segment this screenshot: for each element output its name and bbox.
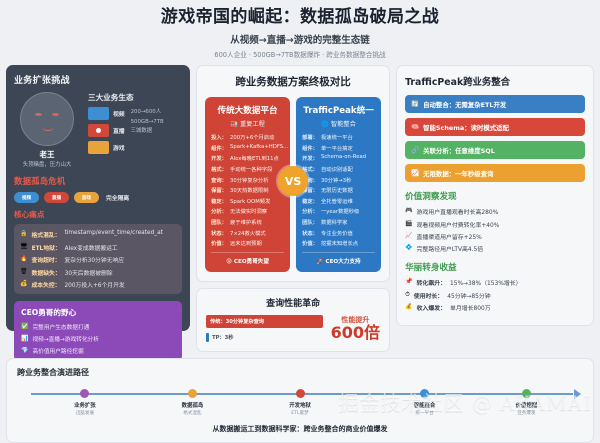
timeline-node-sub: 业务爆发 [496,410,556,416]
ceo-item-text: 完整用户生态数据打通 [32,322,89,331]
ceo-ambition-box: CEO勇哥的野心 ✅ 完整用户生态数据打通 📊 视频→直播→游戏转化分析 💎 高… [14,301,182,361]
avatar-eye-left-icon [35,113,42,116]
row-value: 无限历史数据 [321,186,353,194]
timeline-dot [188,389,197,398]
issue-value: 30天后数据被删除 [65,268,113,277]
feature-bar-text: 无限数据：一年秒级查询 [423,169,493,178]
ecosystem-label: 直播 [113,126,125,135]
gain-section-title: 华丽转身收益 [405,261,585,273]
issue-key: 成本失控： [31,280,60,289]
ecosystem-stat: 200→600人 [131,108,164,117]
row-key: 分析： [302,207,318,215]
row-key: 稳定： [211,197,227,205]
comparison-title: 跨业务数据方案终极对比 [205,74,381,89]
diamond-icon: 💠 [405,244,412,252]
timeline-node-3: 开发地狱 ETL噩梦 [270,388,330,416]
issue-item: 💰 成本失控： 200万投入+6个月开发 [20,280,176,289]
live-dot-icon [96,128,101,133]
middle-column: 跨业务数据方案终极对比 传统大数据平台 🏭 重复工程 投入：200万+6个月启动… [196,65,390,352]
row-value: Schema-on-Read [321,154,366,162]
feature-bar-unlimited-data: 📈 无限数据：一年秒级查询 [405,164,585,182]
feature-bar-text: 关联分析：任意维度SQL [423,146,495,155]
video-color-chip [88,107,109,120]
money-icon: 💰 [20,280,27,288]
modern-row: 稳定：全托管零运维 [302,197,375,205]
trash-icon: 🗑 [20,268,28,276]
row-value: 全托管零运维 [321,197,353,205]
legacy-row: 开发：Alex每晚ETL到11点 [211,154,284,162]
gem-icon: 💎 [21,347,28,354]
chart-line-icon: 📈 [405,232,412,240]
insight-item: 📈 直播渠道用户留存+25% [405,232,585,241]
business-row: 老王 头顶赌盘，压力山大 三大业务生态 视频 [14,92,182,169]
timeline-node-label: 智能整合 [395,401,455,409]
timeline-node-4: 智能整合 统一平台 [395,388,455,416]
insight-section-title: 价值洞察发现 [405,190,585,202]
modern-head: TrafficPeak统一 [302,104,375,116]
timeline-node-5: 价值挖掘 业务爆发 [496,388,556,416]
row-value: 数据科学家 [321,218,348,226]
performance-gain: 性能提升 600倍 [331,315,380,342]
timeline-node-1: 业务扩张 迅猛发展 [55,388,115,416]
issue-key: 数据缺失： [32,268,61,277]
timeline-node-label: 价值挖掘 [496,401,556,409]
legacy-row: 投入：200万+6个月启动 [211,133,284,141]
gain-value: 15%→38%（153%增长） [450,278,522,287]
refresh-icon: 🔄 [411,100,419,108]
row-value: 自动识别适配 [321,165,353,173]
trafficpeak-card: TrafficPeak统一 🌐 智能整合 部署：极速统一平台 组件：单一平台搞定… [296,97,381,272]
lock-icon: 🔒 [20,230,27,238]
row-key: 组件： [211,144,227,152]
row-value: 远未达到预期 [230,239,262,247]
timeline-node-sub: ETL噩梦 [270,410,330,416]
issue-item: 🖥 ETL地狱： Alex变成数据搬运工 [20,243,176,252]
modern-sub: 🌐 智能整合 [302,119,375,128]
live-color-chip [88,124,109,137]
persona-block: 老王 头顶赌盘，压力山大 [14,92,80,169]
row-key: 保留： [211,186,227,194]
columns-container: 业务扩张挑战 老王 头顶赌盘，压力山大 三大业务生态 [0,65,600,352]
feature-bar-correlation: 🔗 关联分析：任意维度SQL [405,141,585,159]
fire-icon: 🔥 [20,255,27,263]
legacy-row: 格式：手动统一各种字段 [211,165,284,173]
row-key: 价值： [211,239,227,247]
timeline-dot [296,389,305,398]
timeline-node-sub: 统一平台 [395,410,455,416]
legacy-row: 组件：Spark+Kafka+HDFS... [211,144,284,152]
row-key: 状态： [211,229,227,237]
vs-wrapper: 传统大数据平台 🏭 重复工程 投入：200万+6个月启动 组件：Spark+Ka… [205,97,381,272]
insight-item: 💠 完整路径用户LTV高4.5倍 [405,244,585,253]
trafficpeak-query-bar [206,333,209,342]
legacy-row: 保留：30天热数据限制 [211,186,284,194]
link-icon: 🔗 [411,146,419,154]
data-silo-banner: 数据孤岛危机 [14,175,182,187]
performance-bars: 传统：30分钟复杂查询 TP：3秒 [206,315,323,342]
gain-key: 收入爆发： [417,303,446,312]
legacy-row: 分析：无法做实时洞察 [211,207,284,215]
chart-icon: 📊 [21,335,28,342]
insight-item: 🎮 游戏用户直播观看时长高280% [405,207,585,216]
row-key: 部署： [302,133,318,141]
insight-text: 游戏用户直播观看时长高280% [417,207,499,216]
timeline-track: 业务扩张 迅猛发展 数据孤岛 格式混乱 开发地狱 ETL噩梦 智能整合 统一平台… [17,388,583,422]
issue-key: ETL地狱： [32,243,61,252]
issue-item: 🔥 查询超时： 复杂分析30分钟无响应 [20,255,176,264]
issue-value: 复杂分析30分钟无响应 [64,255,124,264]
gain-value: 单月增长800万 [450,303,491,312]
performance-gain-value: 600倍 [331,325,380,342]
feature-bar-text: 智能Schema：读时模式适配 [423,123,509,132]
issue-key: 查询超时： [31,255,60,264]
ceo-item: 💎 高价值用户路径挖掘 [21,346,175,355]
ceo-item-text: 视频→直播→游戏转化分析 [32,334,98,343]
comparison-card: 跨业务数据方案终极对比 传统大数据平台 🏭 重复工程 投入：200万+6个月启动… [196,65,390,282]
ecosystem-stat: 500GB→7TB [131,118,164,127]
gain-value: 45分钟→85分钟 [447,291,491,300]
clock-icon: ⏱ [405,291,410,299]
timeline-node-sub: 格式混乱 [162,410,222,416]
ceo-item-text: 高价值用户路径挖掘 [32,346,83,355]
pill-live: 直播 [44,192,69,203]
row-value: 无法做实时洞察 [230,207,267,215]
pill-game: 游戏 [74,192,99,203]
row-value: 200万+6个月启动 [230,133,274,141]
ecosystem-item-game: 游戏 [88,141,125,154]
legacy-sub: 🏭 重复工程 [211,119,284,128]
ecosystem-item-video: 视频 [88,107,125,120]
ceo-item: ✅ 完整用户生态数据打通 [21,322,175,331]
performance-card: 查询性能革命 传统：30分钟复杂查询 TP：3秒 性能提升 600倍 [196,288,390,352]
modern-row: 分析：一year数据秒级 [302,207,375,215]
legacy-row: 稳定：Spark OOM频发 [211,197,284,205]
modern-row: 开发：Schema-on-Read [302,154,375,162]
legacy-row: 查询：30分钟复杂分析 [211,176,284,184]
row-key: 组件： [302,144,318,152]
persona-note: 头顶赌盘，压力山大 [14,162,80,169]
row-value: 30天热数据限制 [230,186,269,194]
row-value: 7×24救火模式 [230,229,266,237]
feature-bar-smart-schema: 🧠 智能Schema：读时模式适配 [405,118,585,136]
pin-icon: 📌 [405,278,412,286]
avatar-mouth-icon [42,126,54,131]
timeline-dot [420,389,429,398]
row-key: 团队： [211,218,227,226]
legacy-row: 价值：远未达到预期 [211,239,284,247]
core-pain-title: 核心痛点 [14,209,182,220]
feature-bar-auto-integration: 🔄 自动整合：无需复杂ETL开发 [405,95,585,113]
row-value: 30分钟复杂分析 [230,176,269,184]
issue-value: Alex变成数据搬运工 [65,243,118,252]
timeline-dot [522,389,531,398]
gain-key: 转化飙升： [417,278,446,287]
issue-item: 🔒 格式混乱： timestamp/event_time/created_at [20,230,176,239]
row-value: Alex每晚ETL到11点 [230,154,279,162]
row-key: 投入： [211,133,227,141]
issue-item: 🗑 数据缺失： 30天后数据被删除 [20,268,176,277]
row-key: 状态： [302,229,318,237]
row-key: 稳定： [302,197,318,205]
row-value: 挖掘未知增长点 [321,239,358,247]
avatar [20,92,74,146]
gain-item: ⏱ 使用时长： 45分钟→85分钟 [405,291,585,300]
modern-row: 部署：极速统一平台 [302,133,375,141]
row-key: 价值： [302,239,318,247]
row-value: Spark+Kafka+HDFS... [230,144,288,152]
trafficpeak-query-label: TP：3秒 [212,334,233,341]
row-key: 开发： [302,154,318,162]
legacy-row: 状态：7×24救火模式 [211,229,284,237]
row-value: 专注业务价值 [321,229,353,237]
game-icon: 🎮 [405,207,412,215]
infographic-page: 游戏帝国的崛起：数据孤岛破局之战 从视频→直播→游戏的完整生态链 600人企业 … [0,0,600,426]
issue-list: 🔒 格式混乱： timestamp/event_time/created_at … [14,224,182,294]
row-key: 分析： [211,207,227,215]
pill-video: 视频 [14,192,39,203]
ecosystem-legend: 视频 直播 游戏 [88,107,125,154]
timeline-title: 跨业务整合演进路径 [17,367,583,378]
timeline-node-label: 开发地狱 [270,401,330,409]
ecosystem-body: 视频 直播 游戏 [88,107,182,154]
timeline-node-label: 数据孤岛 [162,401,222,409]
monitor-icon: 🖥 [20,243,28,251]
ceo-item: 📊 视频→直播→游戏转化分析 [21,334,175,343]
page-subtitle: 从视频→直播→游戏的完整生态链 [0,32,600,46]
issue-value: timestamp/event_time/created_at [64,230,163,236]
timeline-arrow-icon [574,389,581,399]
insight-text: 完整路径用户LTV高4.5倍 [417,244,484,253]
modern-row: 状态：专注业务价值 [302,229,375,237]
ecosystem-title: 三大业务生态 [88,92,182,103]
row-key: 团队： [302,218,318,226]
row-value: Spark OOM频发 [230,197,270,205]
check-icon: ✅ [21,323,28,330]
modern-row: 价值：挖掘未知增长点 [302,239,375,247]
gain-key: 使用时长： [414,291,443,300]
trafficpeak-query-row: TP：3秒 [206,333,323,342]
timeline-node-sub: 迅猛发展 [55,410,115,416]
ecosystem-label: 视频 [113,109,125,118]
timeline-dot [80,389,89,398]
trend-up-icon: 📈 [411,169,419,177]
feature-bar-text: 自动整合：无需复杂ETL开发 [423,100,506,109]
gain-item: 📌 转化飙升： 15%→38%（153%增长） [405,278,585,287]
row-value: 一year数据秒级 [321,207,359,215]
brain-icon: 🧠 [411,123,419,131]
row-value: 手动统一各种字段 [230,165,272,173]
ceo-title: CEO勇哥的野心 [21,307,175,318]
modern-row: 格式：自动识别适配 [302,165,375,173]
legacy-platform-card: 传统大数据平台 🏭 重复工程 投入：200万+6个月启动 组件：Spark+Ka… [205,97,290,272]
modern-row: 查询：30分钟→3秒 [302,176,375,184]
ecosystem-stat: 三城数据 [131,127,164,136]
ecosystem-label: 游戏 [113,143,125,152]
timeline-node-2: 数据孤岛 格式混乱 [162,388,222,416]
ecosystem-item-live: 直播 [88,124,125,137]
modern-row: 团队：数据科学家 [302,218,375,226]
right-column: TrafficPeak跨业务整合 🔄 自动整合：无需复杂ETL开发 🧠 智能Sc… [396,65,594,325]
timeline-node-label: 业务扩张 [55,401,115,409]
legacy-query-bar: 传统：30分钟复杂查询 [206,315,323,328]
avatar-eye-right-icon [52,113,59,116]
performance-title: 查询性能革命 [206,296,380,309]
clapperboard-icon: 🎬 [405,220,412,228]
insight-item: 🎬 观看视频用户付费转化率+40% [405,220,585,229]
money-bag-icon: 💰 [405,303,412,311]
page-header: 游戏帝国的崛起：数据孤岛破局之战 从视频→直播→游戏的完整生态链 600人企业 … [0,0,600,65]
isolation-pills: 视频 直播 游戏 完全隔离 [14,192,182,203]
row-value: 极速统一平台 [321,133,353,141]
modern-row: 组件：单一平台搞定 [302,144,375,152]
row-value: 疲于维护系统 [230,218,262,226]
ecosystem-block: 三大业务生态 视频 直播 [86,92,182,169]
vs-badge: VS [278,166,308,196]
legacy-row: 团队：疲于维护系统 [211,218,284,226]
integration-title: TrafficPeak跨业务整合 [405,74,585,88]
insight-text: 直播渠道用户留存+25% [417,232,482,241]
persona-name: 老王 [14,149,80,160]
page-meta: 600人企业 · 500GB→7TB数据爆炸 · 跨业务数据整合挑战 [0,49,600,59]
issue-value: 200万投入+6个月开发 [64,280,124,289]
modern-footer: 🚀 CEO大力支持 [302,252,375,265]
isolation-note: 完全隔离 [106,193,129,202]
left-column: 业务扩张挑战 老王 头顶赌盘，压力山大 三大业务生态 [6,65,190,331]
page-title: 游戏帝国的崛起：数据孤岛破局之战 [0,7,600,28]
row-value: 30分钟→3秒 [321,176,351,184]
ecosystem-stats: 200→600人 500GB→7TB 三城数据 [131,107,164,154]
row-value: 单一平台搞定 [321,144,353,152]
legacy-head: 传统大数据平台 [211,104,284,116]
row-key: 开发： [211,154,227,162]
business-challenge-panel: 业务扩张挑战 老王 头顶赌盘，压力山大 三大业务生态 [6,65,190,331]
left-panel-title: 业务扩张挑战 [14,73,182,86]
gain-item: 💰 收入爆发： 单月增长800万 [405,303,585,312]
row-key: 查询： [211,176,227,184]
row-key: 格式： [211,165,227,173]
insight-text: 观看视频用户付费转化率+40% [417,220,500,229]
performance-body: 传统：30分钟复杂查询 TP：3秒 性能提升 600倍 [206,315,380,342]
modern-row: 保留：无限历史数据 [302,186,375,194]
timeline-card: 跨业务整合演进路径 业务扩张 迅猛发展 数据孤岛 格式混乱 开发地狱 ETL噩梦 [6,358,594,443]
legacy-footer: 😰 CEO勇哥失望 [211,252,284,265]
integration-card: TrafficPeak跨业务整合 🔄 自动整合：无需复杂ETL开发 🧠 智能Sc… [396,65,594,325]
game-color-chip [88,141,109,154]
issue-key: 格式混乱： [31,230,60,239]
